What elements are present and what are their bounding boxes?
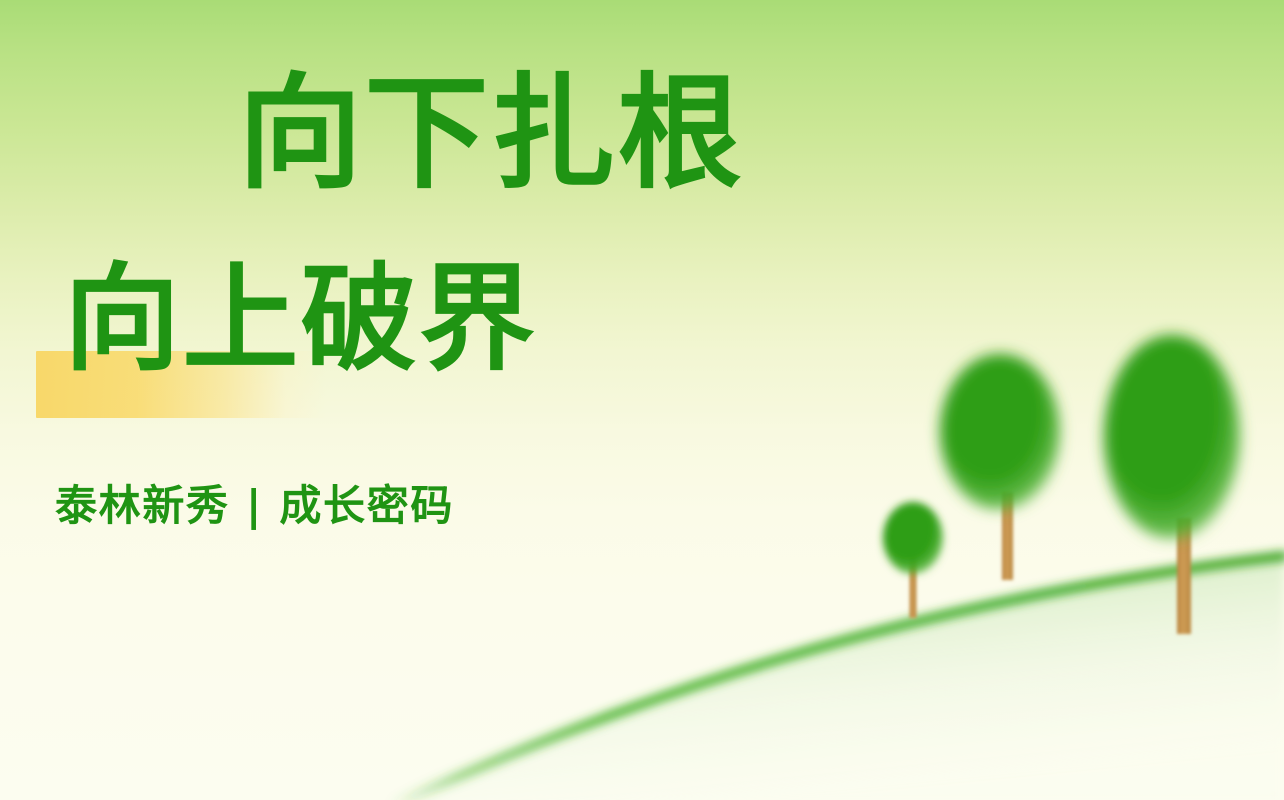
small-tree-crown	[883, 502, 943, 574]
medium-tree	[940, 354, 1060, 580]
medium-tree-crown	[940, 354, 1060, 510]
large-tree	[1104, 335, 1240, 634]
large-tree-crown	[1104, 335, 1240, 539]
small-tree-trunk	[910, 556, 917, 618]
headline-line-1: 向下扎根	[238, 72, 744, 196]
subtitle-text: 泰林新秀 | 成长密码	[55, 482, 454, 530]
headline-line-2-group: 向上破界	[36, 262, 596, 422]
title-text-block: 向下扎根 向上破界 泰林新秀 | 成长密码	[0, 0, 800, 800]
headline-line-2: 向上破界	[64, 262, 537, 378]
slide-canvas: 向下扎根 向上破界 泰林新秀 | 成长密码	[0, 0, 1284, 800]
medium-tree-trunk	[1002, 492, 1013, 580]
large-tree-trunk	[1177, 518, 1191, 634]
small-tree	[883, 502, 943, 618]
